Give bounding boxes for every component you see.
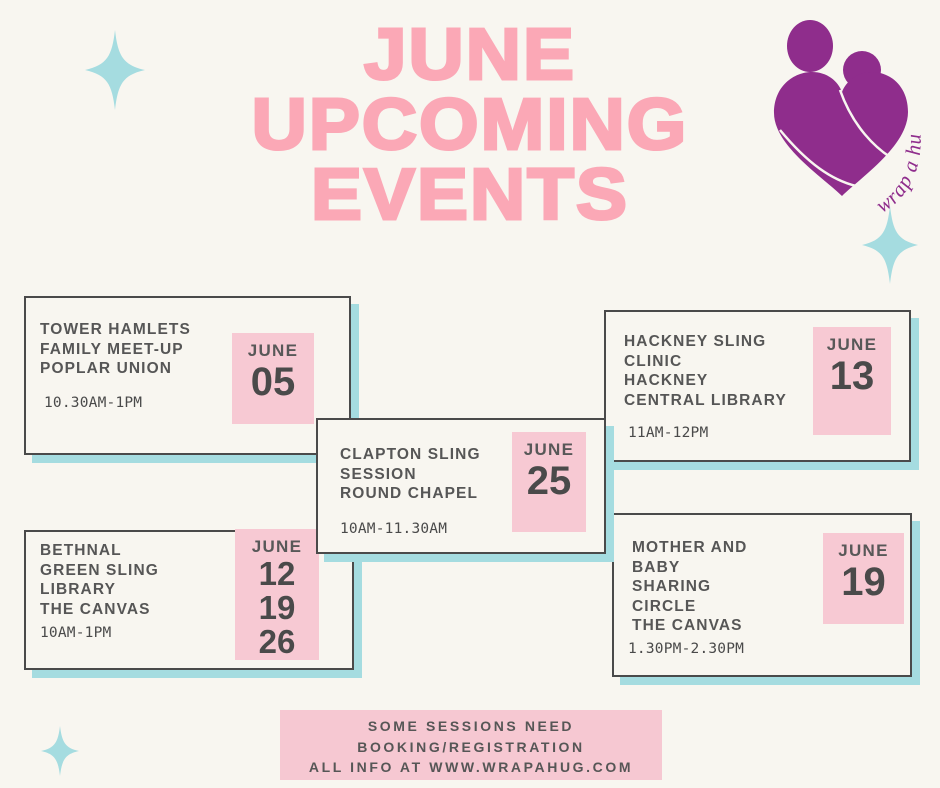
event-venue: TOWER HAMLETS FAMILY MEET-UP POPLAR UNIO… [40, 320, 191, 379]
sparkle-top-left-icon [85, 30, 145, 110]
event-venue: BETHNAL GREEN SLING LIBRARY THE CANVAS [40, 541, 159, 619]
event-time: 10AM-1PM [40, 625, 111, 641]
event-venue: HACKNEY SLING CLINIC HACKNEY CENTRAL LIB… [624, 332, 787, 410]
event-date-badge-hackney: JUNE 13 [813, 327, 891, 435]
event-time: 10AM-11.30AM [340, 521, 447, 537]
event-time: 1.30PM-2.30PM [628, 641, 744, 657]
title-line-1: JUNE [173, 22, 767, 88]
poster-canvas: JUNE UPCOMING EVENTS wrap a hug T [0, 0, 940, 788]
event-time: 10.30AM-1PM [44, 395, 142, 411]
event-date-badge-bethnal: JUNE 12 19 26 [235, 529, 319, 660]
footer-booking-banner: SOME SESSIONS NEED BOOKING/REGISTRATION … [280, 710, 662, 780]
badge-month: JUNE [512, 440, 586, 460]
title-line-3: EVENTS [173, 162, 767, 228]
event-date-badge-tower-hamlets: JUNE 05 [232, 333, 314, 424]
event-venue: CLAPTON SLING SESSION ROUND CHAPEL [340, 445, 481, 504]
badge-month: JUNE [235, 537, 319, 557]
wrap-a-hug-logo: wrap a hug [762, 18, 922, 218]
badge-day-2: 19 [235, 591, 319, 625]
poster-title: JUNE UPCOMING EVENTS [190, 22, 750, 233]
badge-day-1: 12 [235, 557, 319, 591]
badge-day: 05 [232, 361, 314, 403]
badge-day: 25 [512, 460, 586, 502]
title-line-2: UPCOMING [173, 92, 767, 158]
badge-month: JUNE [823, 541, 904, 561]
event-date-badge-mother-baby: JUNE 19 [823, 533, 904, 624]
footer-line-1: SOME SESSIONS NEED [280, 716, 662, 737]
sparkle-bottom-left-icon [41, 726, 79, 776]
badge-day-3: 26 [235, 625, 319, 659]
event-venue: MOTHER AND BABY SHARING CIRCLE THE CANVA… [632, 538, 747, 636]
badge-day: 19 [823, 561, 904, 603]
badge-month: JUNE [232, 341, 314, 361]
badge-day: 13 [813, 355, 891, 397]
badge-month: JUNE [813, 335, 891, 355]
event-date-badge-clapton: JUNE 25 [512, 432, 586, 532]
event-time: 11AM-12PM [628, 425, 708, 441]
footer-line-3: ALL INFO AT WWW.WRAPAHUG.COM [280, 757, 662, 778]
footer-line-2: BOOKING/REGISTRATION [280, 737, 662, 758]
